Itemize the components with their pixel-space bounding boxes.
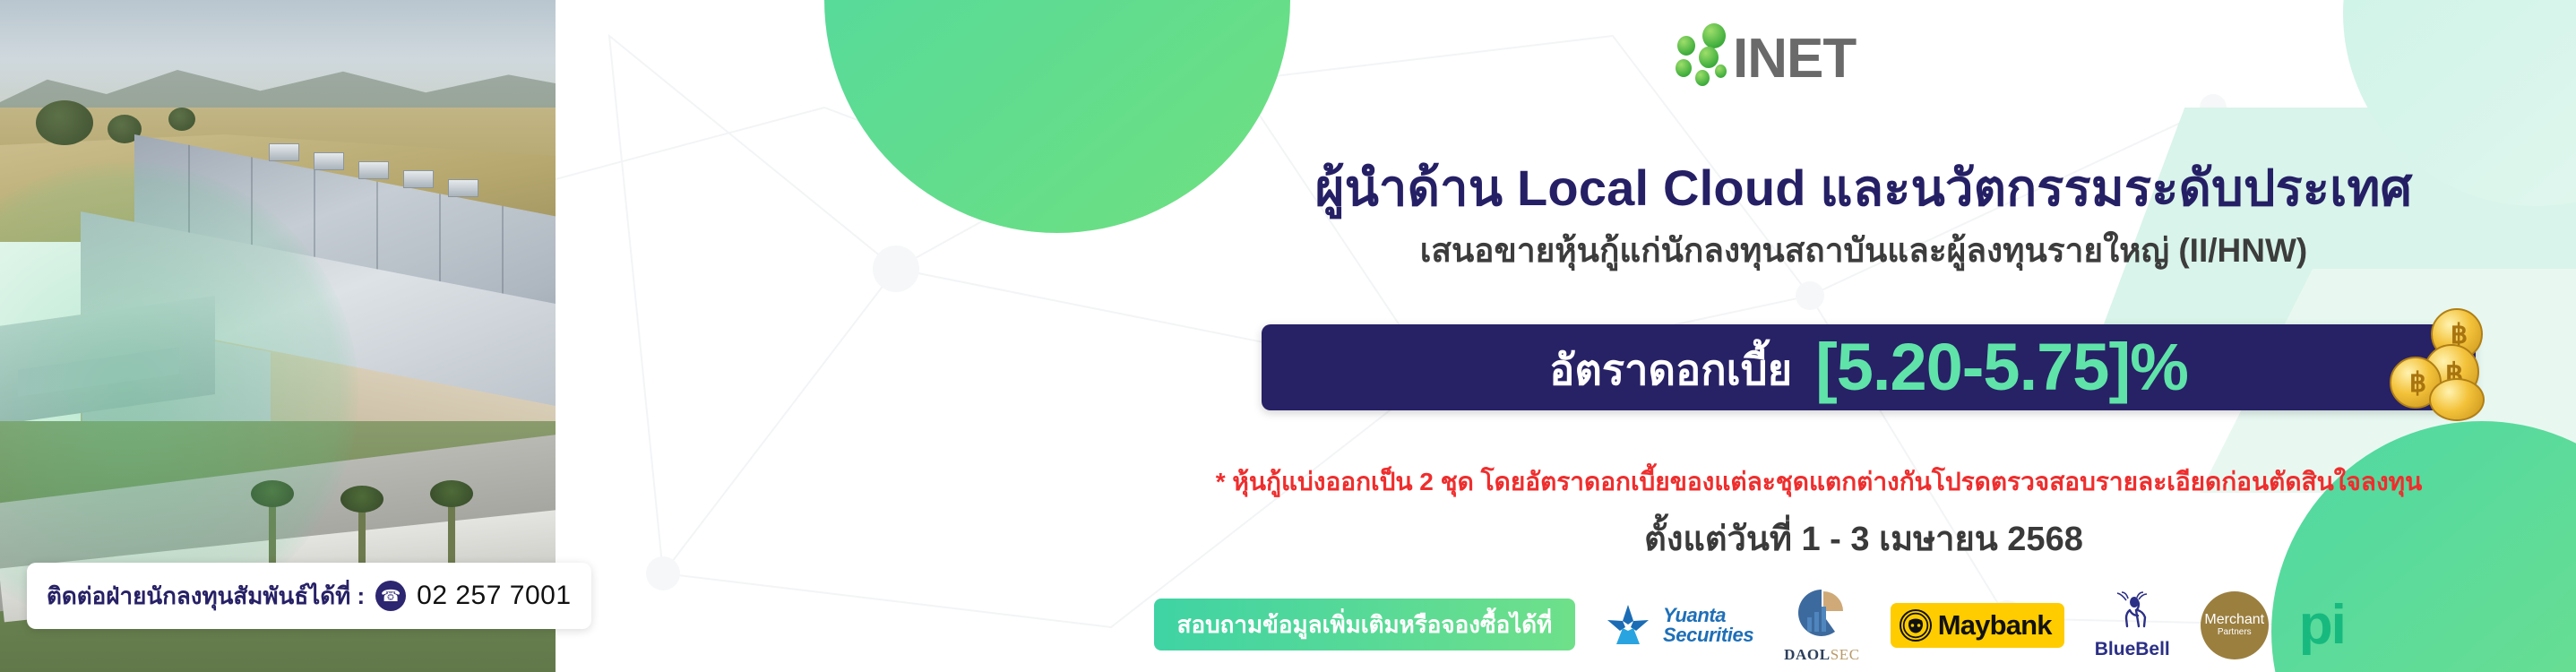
interest-rate-label: อัตราดอกเบี้ย — [1549, 336, 1792, 403]
maybank-tiger-icon — [1900, 609, 1932, 642]
partner-yuanta[interactable]: Yuanta Securities — [1604, 601, 1753, 650]
partner-daol[interactable]: DAOLSEC — [1784, 587, 1860, 664]
partner-maybank[interactable]: Maybank — [1891, 603, 2064, 648]
bluebell-wordmark: BlueBell — [2095, 639, 2170, 660]
partner-logos: Yuanta Securities DAOLSEC — [1604, 581, 2563, 670]
inet-wordmark: INET — [1733, 33, 1856, 86]
photo-roof-unit — [269, 143, 299, 161]
photo-roof-unit — [314, 152, 344, 170]
interest-rate-box: อัตราดอกเบี้ย [5.20-5.75]% ฿ ฿ ฿ — [1262, 324, 2476, 410]
bitcoin-coins-icon: ฿ ฿ ฿ — [2384, 305, 2492, 423]
yuanta-star-icon — [1604, 601, 1652, 650]
phone-icon: ☎ — [375, 581, 406, 611]
partner-bluebell[interactable]: BlueBell — [2095, 591, 2170, 660]
promo-banner: INET ผู้นำด้าน Local Cloud และนวัตกรรมระ… — [0, 0, 2576, 672]
partner-merchant[interactable]: Merchant Partners — [2201, 591, 2269, 659]
photo-palm-trunk — [358, 507, 366, 570]
page-title: ผู้นำด้าน Local Cloud และนวัตกรรมระดับปร… — [1201, 148, 2527, 228]
photo-roof-unit — [358, 161, 389, 179]
photo-palm-top — [340, 486, 383, 513]
footnote-text: * หุ้นกู้แบ่งออกเป็น 2 ชุด โดยอัตราดอกเบ… — [1111, 462, 2527, 502]
contact-phone[interactable]: 02 257 7001 — [417, 581, 571, 611]
merchant-line2: Partners — [2218, 628, 2252, 638]
photo-roof-unit — [448, 179, 478, 197]
photo-palm-trunk — [448, 502, 455, 564]
offer-dates: ตั้งแต่วันที่ 1 - 3 เมษายน 2568 — [1201, 511, 2527, 565]
inet-logo[interactable]: INET — [1665, 16, 1934, 86]
inet-dots-logo — [1665, 16, 1731, 86]
interest-rate-value: [5.20-5.75]% — [1815, 334, 2188, 401]
partner-pi[interactable]: pi — [2299, 603, 2345, 648]
contact-card: ติดต่อฝ่ายนักลงทุนสัมพันธ์ได้ที่ : ☎ 02 … — [27, 563, 591, 629]
maybank-wordmark: Maybank — [1938, 609, 2052, 642]
bluebell-deer-icon — [2108, 591, 2157, 633]
photo-roof-unit — [403, 170, 434, 188]
photo-tree — [168, 108, 195, 131]
daol-wordmark: DAOLSEC — [1784, 646, 1860, 664]
contact-label: ติดต่อฝ่ายนักลงทุนสัมพันธ์ได้ที่ : — [47, 578, 365, 615]
daol-pie-icon — [1796, 587, 1848, 639]
yuanta-wordmark: Yuanta Securities — [1663, 606, 1753, 644]
subtitle: เสนอขายหุ้นกู้แก่นักลงทุนสถาบันและผู้ลงท… — [1201, 224, 2527, 277]
photo-tree — [36, 100, 93, 145]
photo-palm-top — [430, 480, 473, 507]
inquiry-button-label: สอบถามข้อมูลเพิ่มเติมหรือจองซื้อได้ที่ — [1177, 607, 1553, 643]
merchant-line1: Merchant — [2204, 613, 2264, 628]
inquiry-button[interactable]: สอบถามข้อมูลเพิ่มเติมหรือจองซื้อได้ที่ — [1154, 599, 1575, 650]
